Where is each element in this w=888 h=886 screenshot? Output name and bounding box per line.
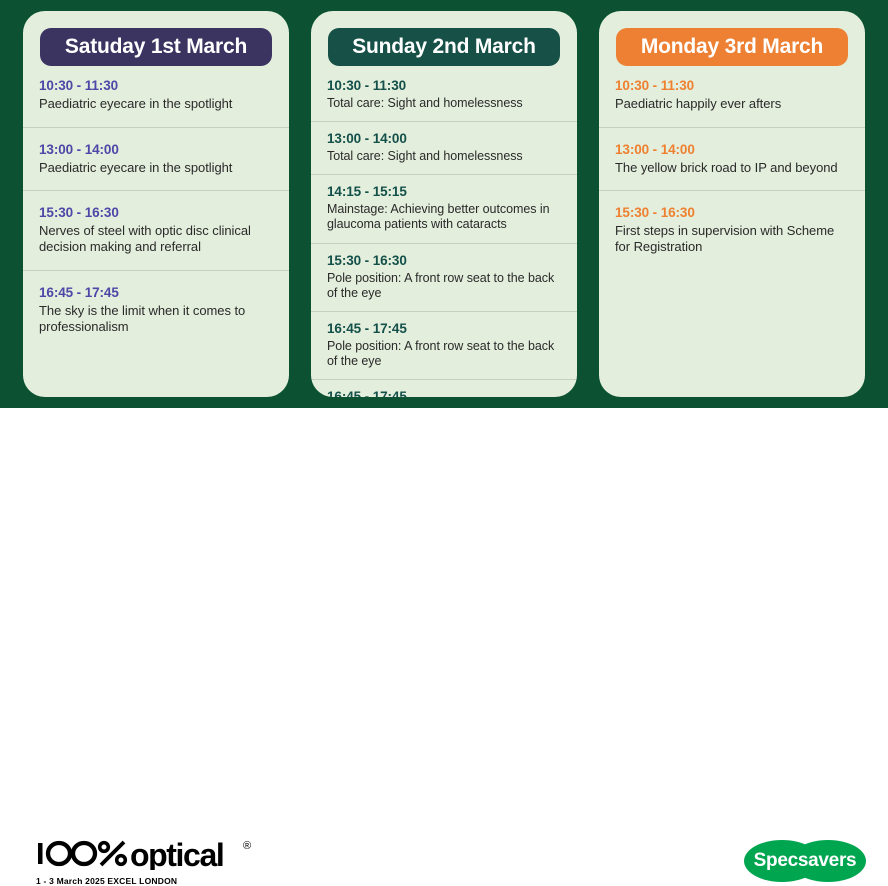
session-title: Total care: Sight and homelessness <box>327 149 561 164</box>
session-time: 16:45 - 17:45 <box>39 285 273 302</box>
session-title: First steps in supervision with Scheme f… <box>615 223 849 255</box>
day-header-monday: Monday 3rd March <box>616 28 848 66</box>
session-title: Mainstage: Achieving better outcomes in … <box>327 202 561 233</box>
session-time: 13:00 - 14:00 <box>327 131 561 148</box>
session-title: The sky is the limit when it comes to pr… <box>39 303 273 335</box>
schedule-columns: Satuday 1st March 10:30 - 11:30 Paediatr… <box>0 0 888 408</box>
session-item[interactable]: 15:30 - 16:30 First steps in supervision… <box>599 190 865 270</box>
logo-100-optical-glyphs: optical ® <box>36 836 272 870</box>
sponsor-logo-specsavers[interactable]: Specsavers <box>744 840 866 882</box>
day-header-saturday: Satuday 1st March <box>40 28 272 66</box>
session-time: 10:30 - 11:30 <box>39 78 273 95</box>
session-item[interactable]: 16:45 - 17:45 Optical Academy: Look afte… <box>311 379 577 397</box>
session-time: 13:00 - 14:00 <box>39 142 273 159</box>
session-title: Total care: Sight and homelessness <box>327 96 561 111</box>
day-header-sunday: Sunday 2nd March <box>328 28 560 66</box>
session-time: 16:45 - 17:45 <box>327 321 561 338</box>
session-item[interactable]: 13:00 - 14:00 The yellow brick road to I… <box>599 127 865 191</box>
session-time: 13:00 - 14:00 <box>615 142 849 159</box>
svg-text:optical: optical <box>130 837 223 870</box>
session-list-sunday: 10:30 - 11:30 Total care: Sight and home… <box>327 78 561 397</box>
event-logo-100-optical: optical ® 1 - 3 March 2025 EXCEL LONDON <box>36 838 276 886</box>
logo-wordmark: optical ® <box>36 838 276 870</box>
registered-trademark-icon: ® <box>243 840 251 852</box>
session-item[interactable]: 16:45 - 17:45 The sky is the limit when … <box>23 270 289 350</box>
session-time: 10:30 - 11:30 <box>615 78 849 95</box>
session-list-monday: 10:30 - 11:30 Paediatric happily ever af… <box>615 78 849 270</box>
session-title: Pole position: A front row seat to the b… <box>327 339 561 370</box>
session-list-saturday: 10:30 - 11:30 Paediatric eyecare in the … <box>39 78 273 350</box>
session-item[interactable]: 15:30 - 16:30 Nerves of steel with optic… <box>23 190 289 270</box>
session-item[interactable]: 14:15 - 15:15 Mainstage: Achieving bette… <box>311 174 577 242</box>
session-time: 15:30 - 16:30 <box>615 205 849 222</box>
session-title: The yellow brick road to IP and beyond <box>615 160 849 176</box>
schedule-card-sunday: Sunday 2nd March 10:30 - 11:30 Total car… <box>311 11 577 397</box>
session-time: 15:30 - 16:30 <box>327 253 561 270</box>
footer-bar: optical ® 1 - 3 March 2025 EXCEL LONDON … <box>0 408 888 500</box>
session-title: Pole position: A front row seat to the b… <box>327 271 561 302</box>
event-schedule-poster: Satuday 1st March 10:30 - 11:30 Paediatr… <box>0 0 888 500</box>
sponsor-logo-text: Specsavers <box>744 840 866 882</box>
session-title: Paediatric eyecare in the spotlight <box>39 96 273 112</box>
session-item[interactable]: 10:30 - 11:30 Total care: Sight and home… <box>311 78 577 121</box>
schedule-card-saturday: Satuday 1st March 10:30 - 11:30 Paediatr… <box>23 11 289 397</box>
session-time: 15:30 - 16:30 <box>39 205 273 222</box>
session-item[interactable]: 10:30 - 11:30 Paediatric happily ever af… <box>599 78 865 127</box>
session-title: Paediatric eyecare in the spotlight <box>39 160 273 176</box>
session-item[interactable]: 15:30 - 16:30 Pole position: A front row… <box>311 243 577 311</box>
session-item[interactable]: 16:45 - 17:45 Pole position: A front row… <box>311 311 577 379</box>
session-item[interactable]: 13:00 - 14:00 Total care: Sight and home… <box>311 121 577 174</box>
session-time: 16:45 - 17:45 <box>327 389 561 397</box>
session-item[interactable]: 10:30 - 11:30 Paediatric eyecare in the … <box>23 78 289 127</box>
logo-date-venue: 1 - 3 March 2025 EXCEL LONDON <box>36 876 276 886</box>
session-item[interactable]: 13:00 - 14:00 Paediatric eyecare in the … <box>23 127 289 191</box>
session-title: Paediatric happily ever afters <box>615 96 849 112</box>
schedule-card-monday: Monday 3rd March 10:30 - 11:30 Paediatri… <box>599 11 865 397</box>
session-title: Nerves of steel with optic disc clinical… <box>39 223 273 255</box>
session-time: 14:15 - 15:15 <box>327 184 561 201</box>
session-time: 10:30 - 11:30 <box>327 78 561 95</box>
